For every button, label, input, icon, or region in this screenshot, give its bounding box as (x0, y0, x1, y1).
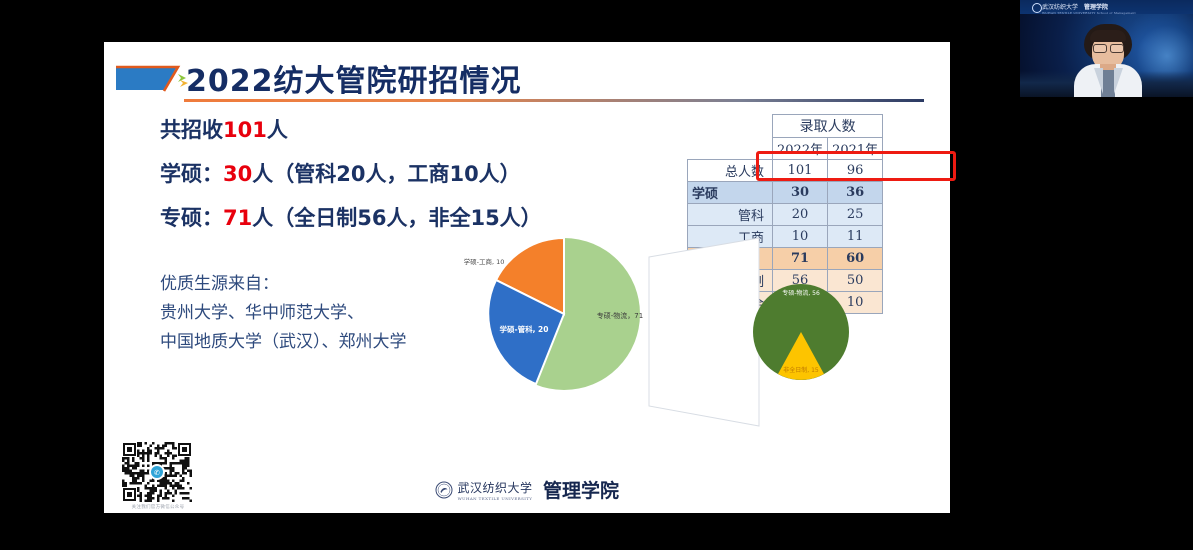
bullet-total: 共招收101人 (160, 114, 610, 144)
speaker-figure (1072, 24, 1144, 97)
row-v2021: 11 (828, 226, 883, 248)
speaker-lapel-right (1114, 68, 1123, 94)
speaker-glasses-left (1093, 44, 1107, 53)
row-v2021: 50 (828, 270, 883, 292)
row-v2022: 101 (773, 160, 828, 182)
table-row: 工商 10 11 (688, 226, 883, 248)
speaker-glasses-right (1110, 44, 1124, 53)
table-corner-cell-2 (688, 138, 773, 160)
table-row: 全日制 56 50 (688, 270, 883, 292)
row-v2022: 30 (773, 182, 828, 204)
row-v2022: 15 (773, 292, 828, 314)
row-label: 工商 (688, 226, 773, 248)
page-title: 2022纺大管院研招情况 (186, 56, 522, 100)
bullet-zhuanshuo: 专硕：71人（全日制56人，非全15人） (160, 202, 610, 232)
row-v2021: 60 (828, 248, 883, 270)
row-label: 非全 (688, 292, 773, 314)
svg-text:学硕-工商, 10: 学硕-工商, 10 (464, 257, 505, 266)
row-label: 专硕 (688, 248, 773, 270)
screen: 2022纺大管院研招情况 共招收101人 学硕：30人（管科20人，工商10人）… (0, 0, 1193, 550)
table-row: 学硕 30 36 (688, 182, 883, 204)
table-row: 管科 20 25 (688, 204, 883, 226)
row-label: 总人数 (688, 160, 773, 182)
source-line-2: 中国地质大学（武汉）、郑州大学 (160, 328, 590, 357)
source-line-1: 贵州大学、华中师范大学、 (160, 299, 590, 328)
speaker-lapel-left (1094, 68, 1103, 94)
summary-text-block: 共招收101人 学硕：30人（管科20人，工商10人） 专硕：71人（全日制56… (160, 114, 610, 246)
row-v2021: 10 (828, 292, 883, 314)
table-group-header: 录取人数 (773, 115, 883, 138)
table-header-row-2: 2022年 2021年 (688, 138, 883, 160)
table-header-row-1: 录取人数 (688, 115, 883, 138)
title-underline (184, 99, 924, 102)
table-corner-cell (688, 115, 773, 138)
row-v2021: 36 (828, 182, 883, 204)
footer-school-name: 管理学院 (543, 476, 619, 503)
row-v2022: 71 (773, 248, 828, 270)
row-v2022: 10 (773, 226, 828, 248)
table-col-2021: 2021年 (828, 138, 883, 160)
row-v2021: 25 (828, 204, 883, 226)
row-label: 全日制 (688, 270, 773, 292)
cam-banner-text: 武汉纺织大学 管理学院 WUHAN TEXTILE UNIVERSITY Sch… (1042, 2, 1136, 15)
row-label: 学硕 (688, 182, 773, 204)
footer-university-name: 武汉纺织大学 WUHAN TEXTILE UNIVERSITY (457, 479, 532, 501)
speaker-fringe (1090, 30, 1126, 42)
row-v2022: 20 (773, 204, 828, 226)
svg-text:专硕-物流，71: 专硕-物流，71 (597, 311, 643, 320)
university-seal-icon (435, 481, 453, 499)
table-col-2022: 2022年 (773, 138, 828, 160)
presentation-slide: 2022纺大管院研招情况 共招收101人 学硕：30人（管科20人，工商10人）… (104, 42, 950, 513)
bullet-xueshuo: 学硕：30人（管科20人，工商10人） (160, 158, 610, 188)
title-decoration-icon (114, 58, 192, 98)
slide-footer: 武汉纺织大学 WUHAN TEXTILE UNIVERSITY 管理学院 (104, 476, 950, 503)
webcam-video-overlay[interactable]: 武汉纺织大学 管理学院 WUHAN TEXTILE UNIVERSITY Sch… (1020, 0, 1193, 97)
qr-caption: 关注我们官方微信公众号 (118, 504, 198, 510)
speaker-inner-top (1101, 70, 1115, 97)
source-universities-block: 优质生源来自： 贵州大学、华中师范大学、 中国地质大学（武汉）、郑州大学 (160, 270, 590, 357)
row-label: 管科 (688, 204, 773, 226)
row-v2022: 56 (773, 270, 828, 292)
source-heading: 优质生源来自： (160, 270, 590, 299)
table-row: 非全 15 10 (688, 292, 883, 314)
admissions-table: 录取人数 2022年 2021年 总人数 101 96 学硕 30 36 管科 … (687, 114, 883, 314)
cam-seal-icon (1032, 3, 1042, 13)
svg-text:非全日制, 15: 非全日制, 15 (783, 366, 819, 374)
row-v2021: 96 (828, 160, 883, 182)
table-row: 专硕 71 60 (688, 248, 883, 270)
table-row: 总人数 101 96 (688, 160, 883, 182)
